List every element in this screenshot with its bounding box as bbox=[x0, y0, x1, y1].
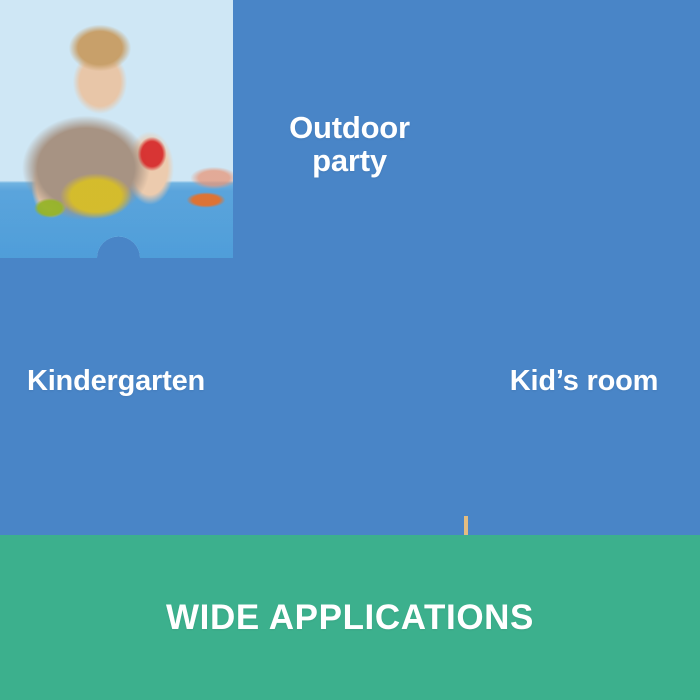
tile-kindergarten[interactable]: Kindergarten bbox=[0, 258, 232, 535]
application-collage: Outdoor party Kindergarten Kid’s room bbox=[0, 0, 700, 535]
photo-boy-with-clay bbox=[0, 0, 233, 258]
tile-photo-party-backplate bbox=[232, 258, 468, 535]
tile-outdoor-party[interactable]: Outdoor party bbox=[233, 0, 466, 258]
wide-applications-banner: WIDE APPLICATIONS bbox=[0, 535, 700, 700]
banner-headline: WIDE APPLICATIONS bbox=[166, 598, 534, 638]
tile-kids-room[interactable]: Kid’s room bbox=[468, 258, 700, 535]
kindergarten-label: Kindergarten bbox=[0, 366, 232, 397]
outdoor-party-line2: party bbox=[312, 143, 387, 178]
product-feature-card: Outdoor party Kindergarten Kid’s room WI… bbox=[0, 0, 700, 700]
outdoor-party-line1: Outdoor bbox=[289, 110, 410, 145]
outdoor-party-label: Outdoor party bbox=[233, 112, 466, 178]
kids-room-label: Kid’s room bbox=[468, 366, 700, 397]
tile-photo-room-backplate bbox=[466, 0, 700, 258]
